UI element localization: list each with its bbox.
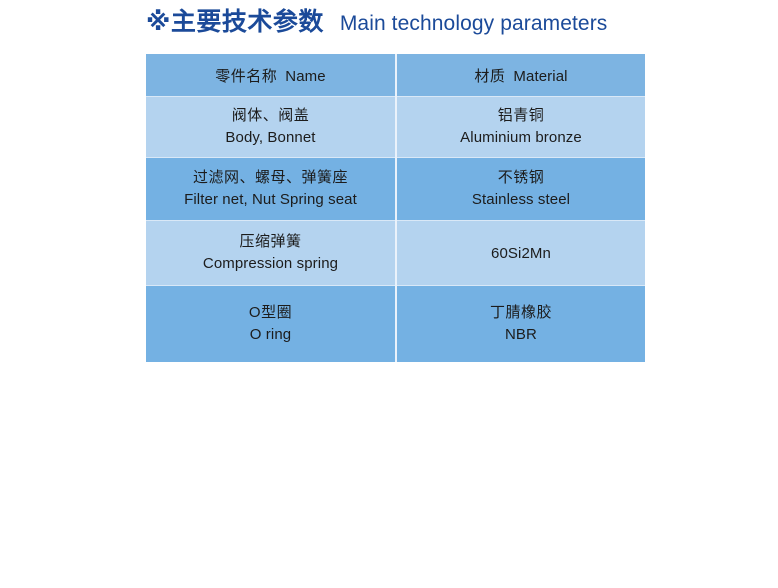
material-en: Aluminium bronze [397,127,645,149]
material-cn: 铝青铜 [397,105,645,127]
header-cell-material: 材质Material [396,54,645,97]
part-name-cn: O型圈 [146,302,395,324]
table-row: 压缩弹簧 Compression spring 60Si2Mn [146,221,645,286]
table-row: 过滤网、螺母、弹簧座 Filter net, Nut Spring seat 不… [146,158,645,221]
header-material-cn: 材质 [474,68,505,85]
cell-part-name: O型圈 O ring [146,286,396,363]
part-name-content: 过滤网、螺母、弹簧座 Filter net, Nut Spring seat [146,167,395,211]
part-name-en: O ring [146,324,395,346]
part-name-cn: 阀体、阀盖 [146,105,395,127]
page-title-english: Main technology parameters [340,13,608,34]
cell-part-name: 阀体、阀盖 Body, Bonnet [146,97,396,158]
part-name-content: 阀体、阀盖 Body, Bonnet [146,105,395,149]
material-en: 60Si2Mn [397,245,645,262]
title-marker-icon: ※ [146,8,171,36]
cell-material: 丁腈橡胶 NBR [396,286,645,363]
material-content: 不锈钢 Stainless steel [397,167,645,211]
main-technology-parameters-table: 零件名称Name 材质Material 阀体、阀盖 Body, Bonnet 铝… [146,54,645,362]
page-title: ※主要技术参数 Main technology parameters [146,10,607,35]
material-cn: 不锈钢 [397,167,645,189]
cell-material: 60Si2Mn [396,221,645,286]
header-material-en: Material [513,68,567,85]
material-en: Stainless steel [397,189,645,211]
part-name-en: Body, Bonnet [146,127,395,149]
material-content: 丁腈橡胶 NBR [397,302,645,346]
table-row: 阀体、阀盖 Body, Bonnet 铝青铜 Aluminium bronze [146,97,645,158]
header-material-label: 材质Material [397,65,645,86]
part-name-cn: 过滤网、螺母、弹簧座 [146,167,395,189]
cell-part-name: 压缩弹簧 Compression spring [146,221,396,286]
part-name-en: Compression spring [146,253,395,275]
header-name-cn: 零件名称 [215,68,277,85]
cell-material: 铝青铜 Aluminium bronze [396,97,645,158]
table-row: O型圈 O ring 丁腈橡胶 NBR [146,286,645,363]
part-name-en: Filter net, Nut Spring seat [146,189,395,211]
material-cn: 丁腈橡胶 [397,302,645,324]
cell-part-name: 过滤网、螺母、弹簧座 Filter net, Nut Spring seat [146,158,396,221]
header-cell-name: 零件名称Name [146,54,396,97]
material-en: NBR [397,324,645,346]
part-name-content: O型圈 O ring [146,302,395,346]
cell-material: 不锈钢 Stainless steel [396,158,645,221]
table-header-row: 零件名称Name 材质Material [146,54,645,97]
header-name-label: 零件名称Name [146,65,395,86]
page-title-chinese: ※主要技术参数 [146,10,324,35]
material-content: 铝青铜 Aluminium bronze [397,105,645,149]
header-name-en: Name [285,68,325,85]
part-name-content: 压缩弹簧 Compression spring [146,231,395,275]
page-root: ※主要技术参数 Main technology parameters 零件名称N… [0,0,778,588]
part-name-cn: 压缩弹簧 [146,231,395,253]
title-chinese-text: 主要技术参数 [171,8,324,36]
